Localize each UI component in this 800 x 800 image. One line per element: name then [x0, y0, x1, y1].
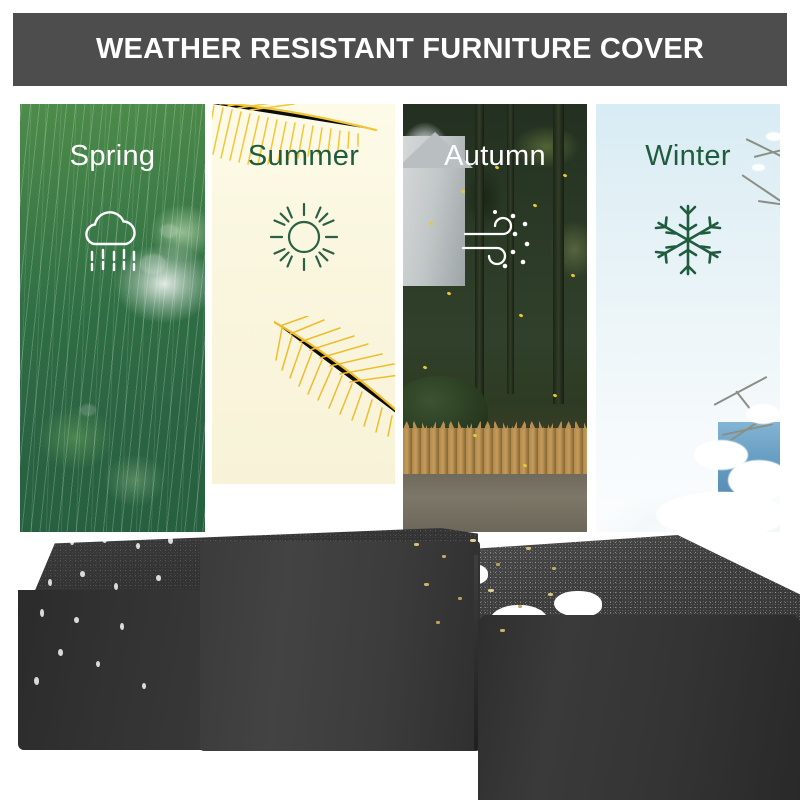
- snow-patch: [554, 591, 602, 617]
- product-marketing-image: WEATHER RESISTANT FURNITURE COVER Spring: [0, 0, 800, 800]
- leaf-debris-group: [400, 533, 590, 653]
- season-panel-group: Spring: [0, 104, 800, 544]
- palm-frond-icon: [274, 316, 395, 446]
- page-title: WEATHER RESISTANT FURNITURE COVER: [96, 33, 704, 66]
- season-panel-autumn: Autumn: [403, 104, 587, 532]
- cover-right-front-panel: [478, 615, 800, 800]
- season-panel-winter: Winter: [596, 104, 780, 532]
- snow-patch: [490, 605, 548, 639]
- snowflake-icon: [596, 200, 780, 280]
- snow-patch: [448, 563, 488, 585]
- wooden-fence: [403, 428, 587, 476]
- snow-mound: [656, 492, 780, 532]
- pavement-strip: [403, 474, 587, 532]
- cover-mid-face-panel: [200, 541, 480, 751]
- season-panel-spring: Spring: [20, 104, 205, 532]
- season-label-autumn: Autumn: [403, 140, 587, 173]
- season-label-spring: Spring: [20, 140, 205, 173]
- wind-icon: [403, 200, 587, 278]
- cover-right-top-surface: [478, 535, 800, 670]
- water-droplet-group: [18, 531, 218, 721]
- tree-branch: [741, 174, 780, 202]
- snow-mound: [746, 404, 780, 424]
- surface-texture: [478, 535, 800, 670]
- tree-branch: [714, 376, 768, 406]
- cover-left-front-panel: [18, 590, 478, 750]
- cover-seam: [474, 555, 478, 750]
- rain-cloud-icon: [20, 200, 205, 278]
- light-bloom: [80, 404, 96, 416]
- sun-icon: [212, 200, 395, 274]
- season-panel-summer: Summer: [212, 104, 395, 484]
- season-label-winter: Winter: [596, 140, 780, 173]
- season-label-summer: Summer: [212, 140, 395, 173]
- header-banner: WEATHER RESISTANT FURNITURE COVER: [13, 13, 787, 86]
- snow-patch: [470, 627, 522, 655]
